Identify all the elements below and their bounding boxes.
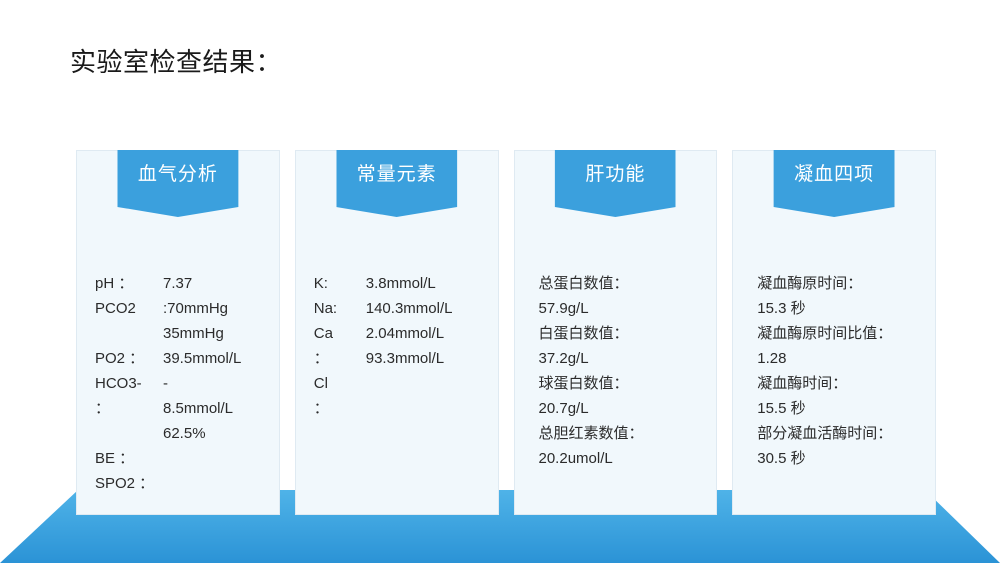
result-value: 39.5mmol/L <box>157 346 265 371</box>
result-line: 15.5 秒 <box>757 396 921 421</box>
card-blood-gas-analysis[interactable]: 血气分析 pH ： 7.37 PCO2 :70mmHg 35mmHg PO2 ：… <box>76 150 280 515</box>
result-label: Cl <box>314 371 360 396</box>
result-label: SPO2 ： <box>95 471 157 496</box>
result-value: - <box>157 371 265 396</box>
result-line: 1.28 <box>757 346 921 371</box>
result-value: 8.5mmol/L <box>157 396 265 421</box>
result-row: pH ： 7.37 <box>95 271 265 296</box>
result-label: K: <box>314 271 360 296</box>
result-value: :70mmHg <box>157 296 265 321</box>
page-title: 实验室检查结果： <box>70 44 282 80</box>
result-row: ： 93.3mmol/L <box>314 346 484 371</box>
result-line: 30.5 秒 <box>757 446 921 471</box>
result-row: HCO3- - <box>95 371 265 396</box>
result-label: Ca <box>314 321 360 346</box>
card-ribbon: 血气分析 <box>117 150 238 217</box>
result-label: PCO2 <box>95 296 157 321</box>
card-ribbon: 凝血四项 <box>774 150 895 217</box>
result-line: 凝血酶时间： <box>757 371 921 396</box>
result-row: Cl <box>314 371 484 396</box>
result-value: 3.8mmol/L <box>360 271 484 296</box>
lab-result-cards: 血气分析 pH ： 7.37 PCO2 :70mmHg 35mmHg PO2 ：… <box>76 150 936 515</box>
card-ribbon: 肝功能 <box>555 150 676 217</box>
result-row: BE ： <box>95 446 265 471</box>
result-row: ： <box>314 396 484 421</box>
card-body: pH ： 7.37 PCO2 :70mmHg 35mmHg PO2 ： 39.5… <box>77 271 279 496</box>
result-label: PO2 ： <box>95 346 157 371</box>
card-title: 凝血四项 <box>774 163 895 187</box>
result-line: 白蛋白数值： <box>539 321 703 346</box>
result-row: PCO2 :70mmHg <box>95 296 265 321</box>
result-line: 总胆红素数值： <box>539 421 703 446</box>
result-value: 62.5% <box>157 421 265 446</box>
result-row: SPO2 ： <box>95 471 265 496</box>
result-line: 部分凝血活酶时间： <box>757 421 921 446</box>
result-label: BE ： <box>95 446 157 471</box>
result-row: Na: 140.3mmol/L <box>314 296 484 321</box>
card-body: 凝血酶原时间： 15.3 秒 凝血酶原时间比值： 1.28 凝血酶时间： 15.… <box>733 271 935 471</box>
result-value: 35mmHg <box>157 321 265 346</box>
result-line: 凝血酶原时间比值： <box>757 321 921 346</box>
result-label: ： <box>314 396 360 421</box>
result-label: ： <box>95 396 157 421</box>
result-line: 球蛋白数值： <box>539 371 703 396</box>
result-row: 62.5% <box>95 421 265 446</box>
result-label: Na: <box>314 296 360 321</box>
card-title: 血气分析 <box>117 163 238 187</box>
result-line: 20.7g/L <box>539 396 703 421</box>
card-ribbon: 常量元素 <box>336 150 457 217</box>
card-coagulation-panel[interactable]: 凝血四项 凝血酶原时间： 15.3 秒 凝血酶原时间比值： 1.28 凝血酶时间… <box>732 150 936 515</box>
result-value: 7.37 <box>157 271 265 296</box>
card-liver-function[interactable]: 肝功能 总蛋白数值： 57.9g/L 白蛋白数值： 37.2g/L 球蛋白数值：… <box>514 150 718 515</box>
result-line: 凝血酶原时间： <box>757 271 921 296</box>
result-line: 15.3 秒 <box>757 296 921 321</box>
result-label: pH ： <box>95 271 157 296</box>
card-body: 总蛋白数值： 57.9g/L 白蛋白数值： 37.2g/L 球蛋白数值： 20.… <box>515 271 717 471</box>
result-row: Ca 2.04mmol/L <box>314 321 484 346</box>
result-line: 总蛋白数值： <box>539 271 703 296</box>
result-line: 37.2g/L <box>539 346 703 371</box>
result-label: ： <box>314 346 360 371</box>
card-title: 肝功能 <box>555 163 676 187</box>
result-value: 2.04mmol/L <box>360 321 484 346</box>
slide-root: 实验室检查结果： 血气分析 pH ： 7.37 PCO2 :70mmHg 3 <box>0 0 1000 563</box>
card-title: 常量元素 <box>336 163 457 187</box>
result-value: 140.3mmol/L <box>360 296 484 321</box>
result-row: PO2 ： 39.5mmol/L <box>95 346 265 371</box>
result-row: K: 3.8mmol/L <box>314 271 484 296</box>
result-value: 93.3mmol/L <box>360 346 484 371</box>
result-row: ： 8.5mmol/L <box>95 396 265 421</box>
card-macro-elements[interactable]: 常量元素 K: 3.8mmol/L Na: 140.3mmol/L Ca 2.0… <box>295 150 499 515</box>
result-line: 57.9g/L <box>539 296 703 321</box>
card-body: K: 3.8mmol/L Na: 140.3mmol/L Ca 2.04mmol… <box>296 271 498 421</box>
result-label: HCO3- <box>95 371 157 396</box>
result-line: 20.2umol/L <box>539 446 703 471</box>
result-row: 35mmHg <box>95 321 265 346</box>
